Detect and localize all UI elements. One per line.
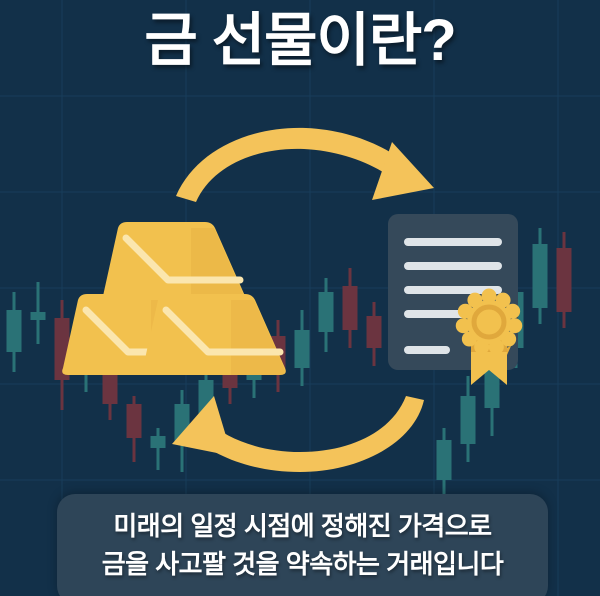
caption-line-2: 금을 사고팔 것을 약속하는 거래입니다 [102,546,504,584]
gold-bars-icon [62,222,286,375]
caption-box: 미래의 일정 시점에 정해진 가격으로 금을 사고팔 것을 약속하는 거래입니다 [57,494,548,596]
infographic-card: 금 선물이란? [0,0,600,596]
curved-arrow-left-icon [172,396,424,472]
caption-line-1: 미래의 일정 시점에 정해진 가격으로 [113,508,491,546]
curved-arrow-right-icon [176,128,434,202]
